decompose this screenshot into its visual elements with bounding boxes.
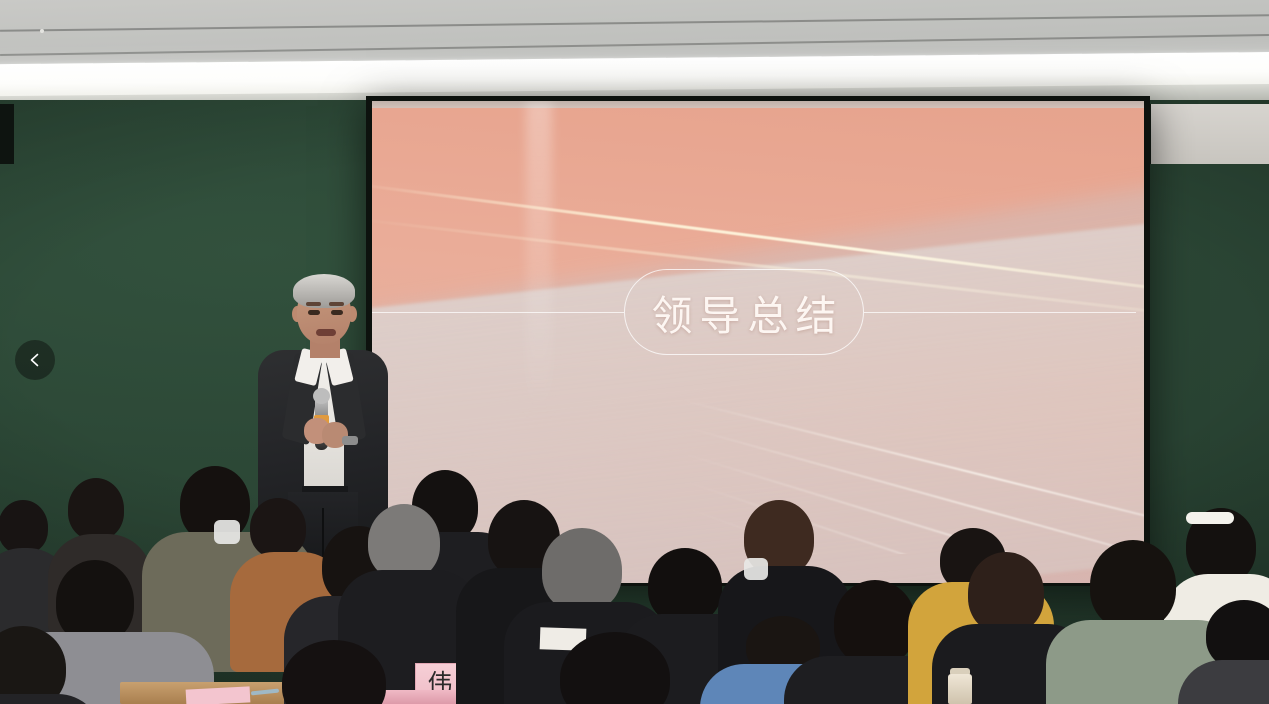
audience-head bbox=[0, 500, 48, 554]
audience-head bbox=[834, 580, 916, 666]
audience-member bbox=[1190, 600, 1269, 704]
audience-head bbox=[968, 552, 1044, 634]
audience-group: 伟 bbox=[0, 0, 1269, 704]
audience-head bbox=[0, 626, 66, 704]
audience-body bbox=[1178, 660, 1269, 704]
audience-member bbox=[0, 626, 86, 704]
audience-member bbox=[540, 632, 700, 704]
audience-head bbox=[1090, 540, 1176, 630]
audience-member bbox=[252, 640, 422, 704]
audience-head bbox=[282, 640, 386, 704]
face-mask bbox=[744, 558, 768, 580]
audience-head bbox=[648, 548, 722, 624]
headband bbox=[1186, 512, 1234, 524]
audience-head bbox=[250, 498, 306, 558]
audience-head bbox=[368, 504, 440, 580]
audience-head bbox=[68, 478, 124, 540]
conference-room-photo: 领导总结 bbox=[0, 0, 1269, 704]
back-button[interactable] bbox=[15, 340, 55, 380]
paper-sheet bbox=[186, 686, 251, 704]
audience-head bbox=[560, 632, 670, 704]
chevron-left-icon bbox=[27, 352, 43, 368]
audience-head bbox=[542, 528, 622, 612]
water-bottle bbox=[948, 674, 972, 704]
